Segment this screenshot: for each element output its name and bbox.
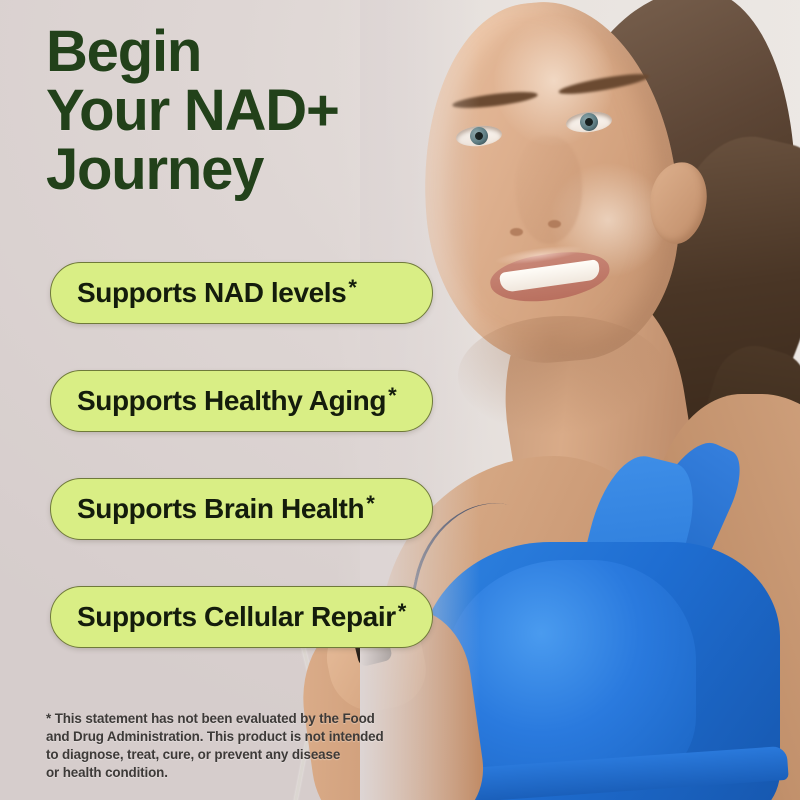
- benefit-pill-healthy-aging[interactable]: Supports Healthy Aging *: [50, 370, 433, 432]
- benefit-pill-cellular-repair[interactable]: Supports Cellular Repair *: [50, 586, 433, 648]
- benefit-pill-brain-health[interactable]: Supports Brain Health *: [50, 478, 433, 540]
- benefit-label: Supports Brain Health: [77, 493, 364, 525]
- benefit-label: Supports Healthy Aging: [77, 385, 386, 417]
- page-title: Begin Your NAD+ Journey: [46, 22, 339, 199]
- footnote-marker: *: [388, 385, 397, 407]
- fda-disclaimer: * This statement has not been evaluated …: [46, 710, 432, 782]
- ad-copy-layer: Begin Your NAD+ Journey Supports NAD lev…: [0, 0, 800, 800]
- benefit-label: Supports Cellular Repair: [77, 601, 396, 633]
- benefit-label: Supports NAD levels: [77, 277, 346, 309]
- benefit-pill-nad-levels[interactable]: Supports NAD levels *: [50, 262, 433, 324]
- nad-supplement-ad-banner: Begin Your NAD+ Journey Supports NAD lev…: [0, 0, 800, 800]
- footnote-marker: *: [398, 601, 407, 623]
- footnote-marker: *: [348, 277, 357, 299]
- benefit-list: Supports NAD levels * Supports Healthy A…: [50, 262, 433, 648]
- footnote-marker: *: [366, 493, 375, 515]
